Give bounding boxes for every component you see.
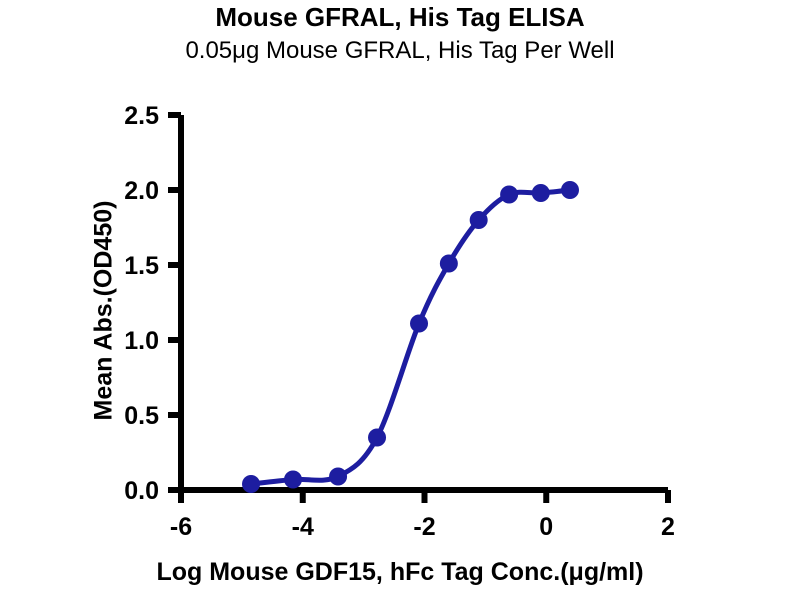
x-tick-label: -2 xyxy=(413,513,435,541)
data-point-2 xyxy=(329,468,347,486)
data-curve xyxy=(251,190,570,484)
y-tick-label: 1.0 xyxy=(124,327,159,355)
data-point-3 xyxy=(368,429,386,447)
y-tick-label: 0.5 xyxy=(124,402,159,430)
plot-area: 0.00.51.01.52.02.5 -6-4-202 xyxy=(0,0,800,600)
axis-lines xyxy=(168,115,668,503)
y-tick-label: 2.5 xyxy=(124,102,159,130)
data-point-4 xyxy=(410,315,428,333)
y-tick-label: 2.0 xyxy=(124,177,159,205)
data-point-6 xyxy=(470,211,488,229)
data-curve-group xyxy=(251,190,570,484)
x-tick-label: -4 xyxy=(292,513,314,541)
x-tick-label: -6 xyxy=(170,513,192,541)
y-tick-label: 0.0 xyxy=(124,477,159,505)
x-tick-label-group: -6-4-202 xyxy=(170,513,675,541)
data-point-8 xyxy=(532,184,550,202)
data-point-9 xyxy=(561,181,579,199)
chart-figure: Mouse GFRAL, His Tag ELISA 0.05μg Mouse … xyxy=(0,0,800,600)
y-axis-label: Mean Abs.(OD450) xyxy=(90,111,119,511)
x-tick-label: 2 xyxy=(661,513,675,541)
y-tick-label: 1.5 xyxy=(124,252,159,280)
y-tick-label-group: 0.00.51.01.52.02.5 xyxy=(124,102,159,505)
data-point-0 xyxy=(242,475,260,493)
data-point-7 xyxy=(500,186,518,204)
x-axis-label: Log Mouse GDF15, hFc Tag Conc.(μg/ml) xyxy=(0,558,800,587)
data-point-1 xyxy=(284,471,302,489)
data-marker-group xyxy=(242,181,579,493)
data-point-5 xyxy=(440,255,458,273)
x-tick-label: 0 xyxy=(539,513,553,541)
